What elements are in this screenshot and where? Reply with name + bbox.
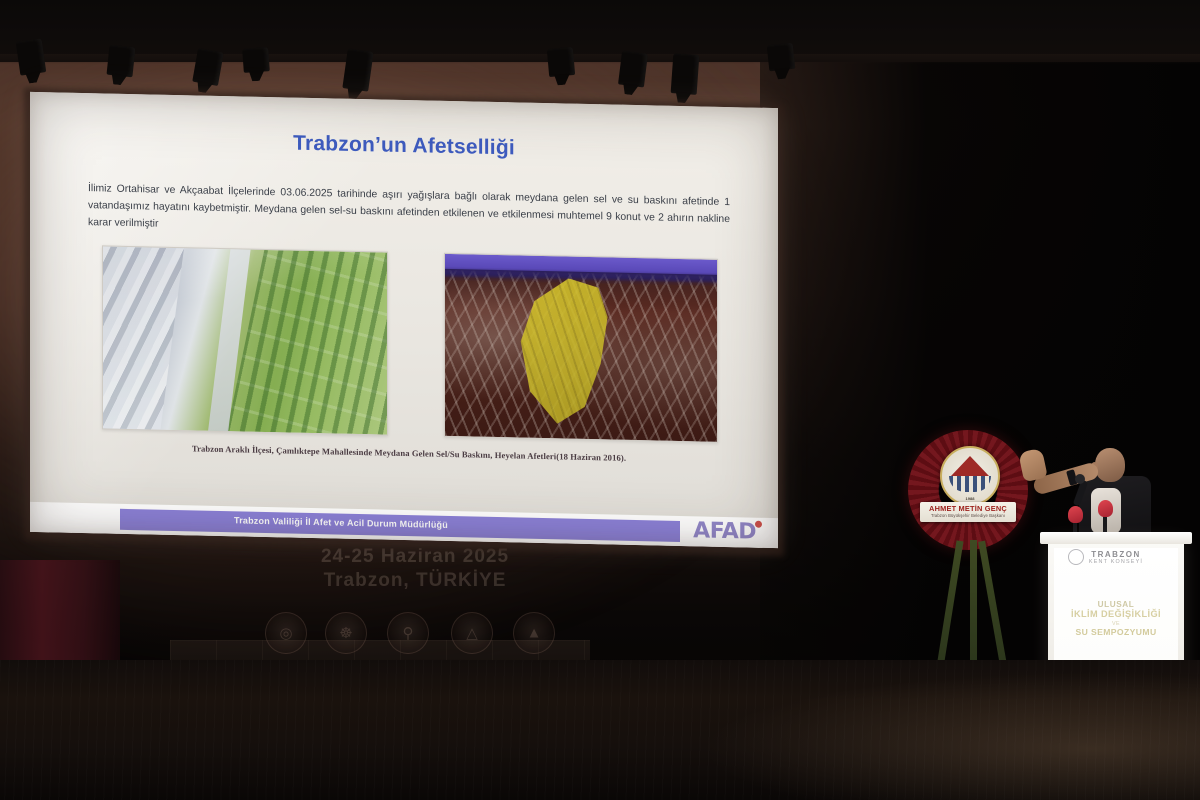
backdrop-overlay-city: Trabzon, TÜRKİYE [250, 569, 580, 593]
wreath-name-plate: AHMET METİN GENÇ Trabzon Büyükşehir Bele… [920, 502, 1016, 522]
speaker-microphone-head [1075, 474, 1085, 484]
stage-floor-grain [0, 660, 1200, 800]
memorial-wreath: 1988 AHMET METİN GENÇ Trabzon Büyükşehir… [908, 430, 1028, 550]
council-line-1: TRABZON [1054, 550, 1178, 559]
stage-light-icon [547, 47, 575, 77]
truss-edge [0, 54, 1200, 64]
emblem-year: 1988 [942, 496, 998, 501]
sponsor-logo-5-icon: ▲ [513, 612, 555, 654]
stage-light-icon [618, 51, 648, 88]
symposium-title: ULUSAL İKLİM DEĞİŞİKLİĞİ VE SU SEMPOZYUM… [1058, 600, 1174, 637]
symposium-title-line-2: İKLİM DEĞİŞİKLİĞİ [1058, 609, 1174, 621]
emblem-wave-icon [949, 476, 991, 492]
slide-photo-aerial [102, 245, 388, 435]
stage-light-icon [342, 48, 373, 91]
backdrop-overlay-text: 24-25 Haziran 2025 Trabzon, TÜRKİYE [250, 545, 580, 593]
slide-photo-terrain-map [444, 253, 718, 443]
municipality-emblem-icon: 1988 [940, 446, 1000, 506]
projection-screen: Trabzon’un Afetselliği İlimiz Ortahisar … [30, 92, 778, 548]
presentation-slide: Trabzon’un Afetselliği İlimiz Ortahisar … [30, 92, 778, 548]
microphone-head-icon [1098, 500, 1113, 517]
podium-top-surface [1040, 532, 1192, 544]
sponsor-logo-2-icon: ☸ [325, 612, 367, 654]
afad-logo: AFAD [693, 518, 756, 544]
slide-title: Trabzon’un Afetselliği [30, 126, 778, 166]
sponsor-logo-3-icon: ⚲ [387, 612, 429, 654]
kent-konseyi-header: TRABZON KENT KONSEYİ [1054, 550, 1178, 565]
speaker-head [1095, 448, 1125, 482]
symposium-title-line-3: SU SEMPOZYUMU [1058, 627, 1174, 637]
slide-photo-row [88, 245, 730, 441]
slide-body-text: İlimiz Ortahisar ve Akçaabat İlçelerinde… [88, 181, 730, 246]
stage-light-icon [107, 45, 136, 78]
stage-light-icon [16, 38, 46, 75]
lighting-truss [0, 0, 1200, 62]
wreath-sender-title: Trabzon Büyükşehir Belediye Başkanı [920, 513, 1016, 518]
terrain-map-content [445, 254, 717, 442]
microphone-head-icon [1068, 506, 1083, 523]
stage-light-icon [671, 53, 700, 95]
wreath-sender-name: AHMET METİN GENÇ [920, 504, 1016, 513]
sponsor-logo-1-icon: ◎ [265, 612, 307, 654]
slide-photo-caption: Trabzon Araklı İlçesi, Çamlıktepe Mahall… [88, 441, 730, 465]
stage-light-icon [767, 43, 796, 72]
symposium-title-line-1: ULUSAL [1058, 600, 1174, 609]
sponsor-logo-4-icon: △ [451, 612, 493, 654]
afad-logo-dot-icon [755, 521, 762, 528]
emblem-mountain-icon [951, 456, 989, 476]
auditorium-stage-scene: 24-25 Haziran 2025 Trabzon, TÜRKİYE ◎ ☸ … [0, 0, 1200, 800]
backdrop-sponsor-logos: ◎ ☸ ⚲ △ ▲ [265, 612, 555, 658]
stage-light-icon [242, 47, 270, 73]
council-line-2: KENT KONSEYİ [1054, 559, 1178, 565]
